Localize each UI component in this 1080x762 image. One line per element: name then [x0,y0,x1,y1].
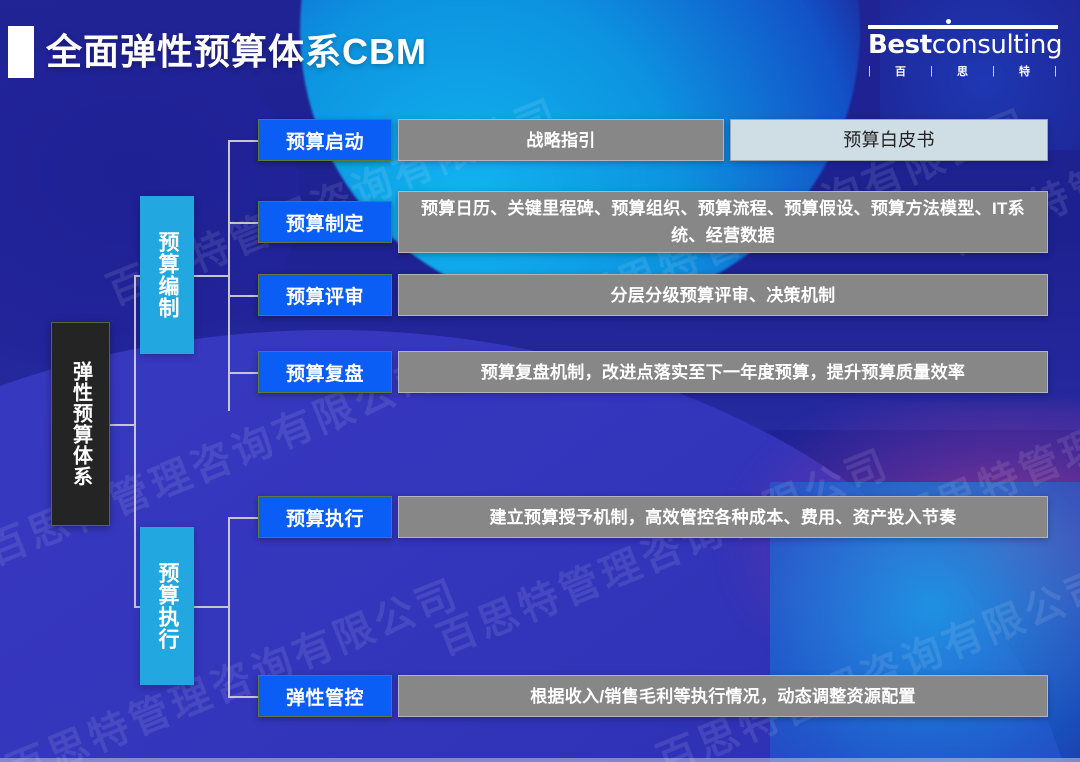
detail-box-budget-retrospective-items[interactable]: 预算复盘机制，改进点落实至下一年度预算，提升预算质量效率 [398,351,1048,393]
detail-box-budget-review-items[interactable]: 分层分级预算评审、决策机制 [398,274,1048,316]
logo-cn-2: 思 [957,63,969,79]
row-label-budget-execution[interactable]: 预算执行 [258,496,392,538]
row-label-budget-kickoff[interactable]: 预算启动 [258,119,392,161]
branch-node-budget-execution[interactable]: 预算执行 [140,527,194,685]
root-node-elastic-budget-system[interactable]: 弹性预算体系 [51,322,110,526]
logo-wordmark: Bestconsulting [868,31,1058,59]
connector-root-stub [110,424,136,426]
connector-branch-2-stub [194,606,230,608]
brand-logo: Bestconsulting | 百 | 思 | 特 | [868,25,1058,79]
connector-branch-2-row-5 [228,517,260,519]
row-label-budget-formulation[interactable]: 预算制定 [258,201,392,243]
logo-word-consulting: consulting [932,30,1062,60]
logo-separator: | [992,65,996,77]
connector-branch-2-row-6 [228,696,260,698]
branch-node-budget-preparation[interactable]: 预算编制 [140,196,194,354]
detail-box-strategy-guidance[interactable]: 战略指引 [398,119,724,161]
detail-box-budget-formulation-items[interactable]: 预算日历、关键里程碑、预算组织、预算流程、预算假设、预算方法模型、IT系统、经营… [398,191,1048,253]
connector-branch-1-row-2 [228,222,260,224]
connector-branch-1-row-1 [228,140,260,142]
logo-dot-icon [946,19,951,24]
connector-branch-1-row-3 [228,295,260,297]
logo-cn-3: 特 [1019,63,1031,79]
row-label-budget-retrospective[interactable]: 预算复盘 [258,351,392,393]
logo-rule [868,25,1058,29]
title-accent-bar [8,26,34,78]
detail-box-flexible-control-items[interactable]: 根据收入/销售毛利等执行情况，动态调整资源配置 [398,675,1048,717]
logo-cn-1: 百 [895,63,907,79]
slide-canvas: 百思特管理咨询有限公司 百思特管理咨询有限公司 百思特管理咨询有限公司 百思特管… [0,0,1080,762]
row-label-flexible-control[interactable]: 弹性管控 [258,675,392,717]
logo-word-best: Best [868,30,932,60]
bottom-strip [0,758,1080,762]
page-title: 全面弹性预算体系CBM [46,26,427,78]
connector-branch-1-row-4 [228,372,260,374]
connector-branch-2-vertical [228,517,230,696]
logo-separator: | [1054,65,1058,77]
row-label-budget-review[interactable]: 预算评审 [258,274,392,316]
detail-box-budget-whitepaper[interactable]: 预算白皮书 [730,119,1048,161]
logo-separator: | [868,65,872,77]
slide-header: 全面弹性预算体系CBM Bestconsulting | 百 | 思 | 特 | [0,0,1080,100]
logo-chinese-name: | 百 | 思 | 特 | [868,63,1058,79]
org-diagram: 弹性预算体系 预算编制 预算执行 预算启动 战略指引 预算白皮书 预算制定 预算… [0,100,1080,740]
detail-box-budget-execution-items[interactable]: 建立预算授予机制，高效管控各种成本、费用、资产投入节奏 [398,496,1048,538]
connector-branch-1-vertical [228,140,230,411]
connector-branch-1-stub [194,275,230,277]
connector-root-vertical [134,275,136,606]
logo-separator: | [930,65,934,77]
